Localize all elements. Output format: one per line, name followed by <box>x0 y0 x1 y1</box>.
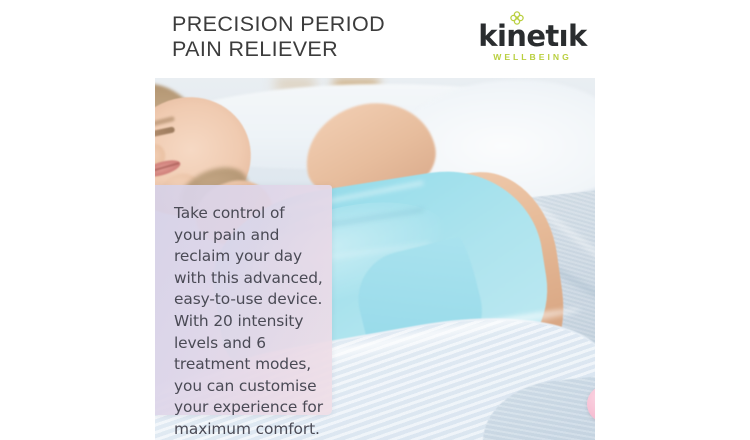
page-title: PRECISION PERIOD PAIN RELIEVER <box>172 12 472 62</box>
copy-line: you can customise <box>174 376 324 398</box>
page-title-line-1: PRECISION PERIOD <box>172 12 472 37</box>
page-title-line-2: PAIN RELIEVER <box>172 37 472 62</box>
copy-line: With 20 intensity <box>174 311 324 333</box>
header-bar: PRECISION PERIOD PAIN RELIEVER kinetık W… <box>0 0 750 78</box>
copy-line: treatment modes, <box>174 354 324 376</box>
copy-line: easy-to-use device. <box>174 289 324 311</box>
marketing-copy-text: Take control of your pain and reclaim yo… <box>174 203 324 440</box>
copy-line: Take control of <box>174 203 324 225</box>
copy-line: maximum comfort. <box>174 419 324 440</box>
copy-line: with this advanced, <box>174 268 324 290</box>
logo-wordmark: kinetık <box>470 21 595 51</box>
copy-line: your experience for <box>174 397 324 419</box>
product-marketing-image: PRECISION PERIOD PAIN RELIEVER kinetık W… <box>0 0 750 440</box>
copy-line: reclaim your day <box>174 246 324 268</box>
copy-line: your pain and <box>174 225 324 247</box>
product-lifestyle-photo: Take control of your pain and reclaim yo… <box>155 78 595 440</box>
brand-logo: kinetık WELLBEING <box>470 10 595 62</box>
logo-tagline: WELLBEING <box>470 52 595 62</box>
marketing-copy-panel: Take control of your pain and reclaim yo… <box>155 185 332 415</box>
copy-line: levels and 6 <box>174 333 324 355</box>
